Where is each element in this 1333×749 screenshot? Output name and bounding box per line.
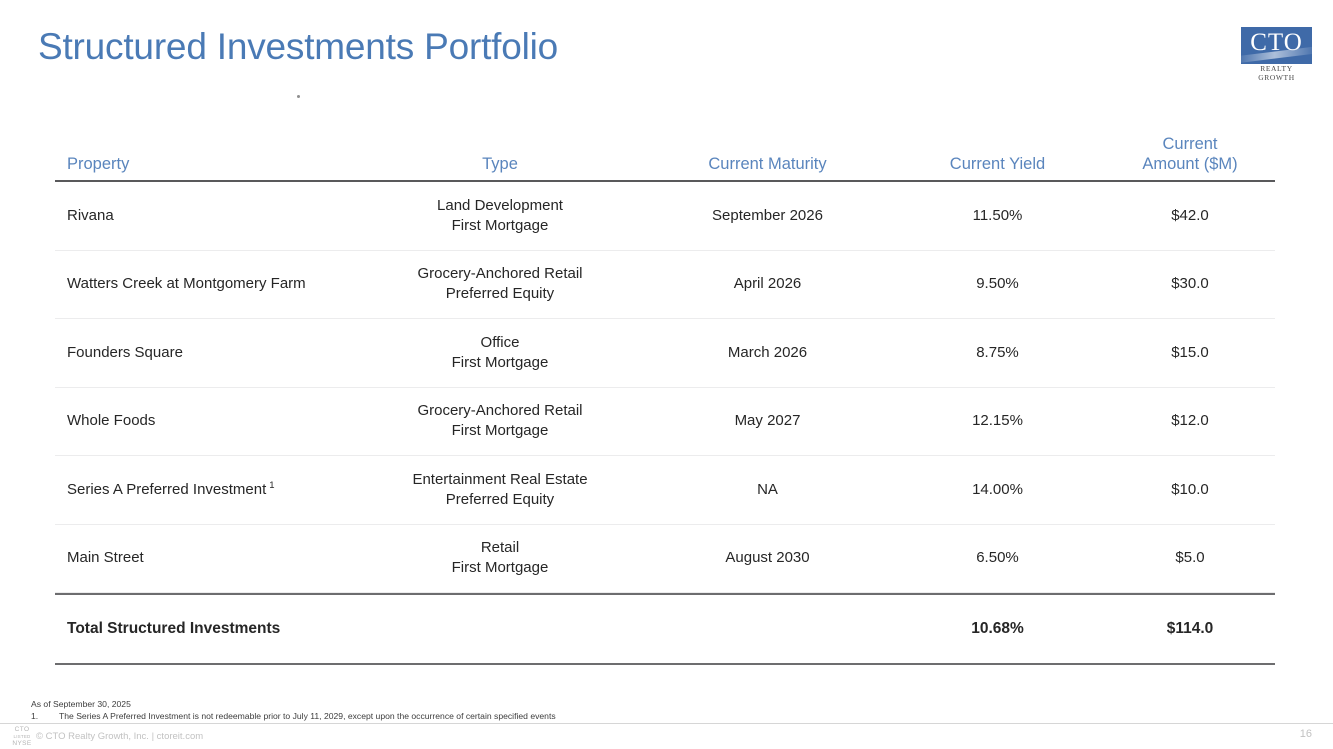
cell-current-maturity: NA <box>645 480 890 500</box>
cell-current-maturity: March 2026 <box>645 343 890 363</box>
page-number: 16 <box>1300 728 1312 740</box>
cell-current-maturity: May 2027 <box>645 411 890 431</box>
stray-dot-artifact <box>297 95 300 98</box>
property-footnote-marker: 1 <box>269 480 274 491</box>
cell-current-amount: $10.0 <box>1105 480 1275 500</box>
cell-current-amount: $5.0 <box>1105 548 1275 568</box>
cell-type: Grocery-Anchored Retail First Mortgage <box>355 401 645 441</box>
cell-current-yield: 12.15% <box>890 411 1105 431</box>
structured-investments-table: Property Type Current Maturity Current Y… <box>55 128 1275 665</box>
property-name: Series A Preferred Investment <box>67 481 266 498</box>
table-row: Rivana Land Development First Mortgage S… <box>55 182 1275 251</box>
logo-subtitle: REALTY GROWTH <box>1241 64 1312 82</box>
type-line1: Grocery-Anchored Retail <box>355 401 645 421</box>
cell-current-amount: $42.0 <box>1105 206 1275 226</box>
footnote-item: 1. The Series A Preferred Investment is … <box>31 710 556 722</box>
column-header-current-amount-line1: Current <box>1105 134 1275 155</box>
cell-total-current-amount: $114.0 <box>1105 619 1275 640</box>
cell-current-maturity: September 2026 <box>645 206 890 226</box>
type-line1: Retail <box>355 538 645 558</box>
table-total-row: Total Structured Investments 10.68% $114… <box>55 593 1275 665</box>
footnotes: As of September 30, 2025 1. The Series A… <box>31 698 556 723</box>
cto-realty-growth-logo: CTO REALTY GROWTH <box>1241 27 1312 75</box>
type-line2: First Mortgage <box>355 558 645 578</box>
column-header-current-amount: Current Amount ($M) <box>1105 134 1275 180</box>
cell-current-amount: $30.0 <box>1105 274 1275 294</box>
type-line1: Grocery-Anchored Retail <box>355 264 645 284</box>
property-name: Watters Creek at Montgomery Farm <box>67 275 306 292</box>
property-name: Main Street <box>67 549 144 566</box>
copyright-text: © CTO Realty Growth, Inc. | ctoreit.com <box>36 731 203 742</box>
cell-property: Whole Foods <box>55 411 355 431</box>
footer-divider <box>0 723 1333 724</box>
cell-property: Main Street <box>55 548 355 568</box>
column-header-current-yield: Current Yield <box>890 154 1105 180</box>
cell-current-yield: 8.75% <box>890 343 1105 363</box>
cell-type: Office First Mortgage <box>355 333 645 373</box>
property-name: Whole Foods <box>67 412 155 429</box>
nyse-listing-logo: CTO LISTED NYSE <box>8 726 36 748</box>
table-row: Whole Foods Grocery-Anchored Retail Firs… <box>55 388 1275 457</box>
footer-logo-nyse: NYSE <box>8 740 36 748</box>
type-line2: First Mortgage <box>355 216 645 236</box>
cell-total-label: Total Structured Investments <box>55 619 355 640</box>
column-header-property: Property <box>55 154 355 180</box>
type-line1: Land Development <box>355 196 645 216</box>
table-header-row: Property Type Current Maturity Current Y… <box>55 128 1275 182</box>
cell-type: Land Development First Mortgage <box>355 196 645 236</box>
type-line2: Preferred Equity <box>355 490 645 510</box>
property-name: Founders Square <box>67 344 183 361</box>
cell-current-yield: 6.50% <box>890 548 1105 568</box>
logo-box: CTO <box>1241 27 1312 64</box>
cell-property: Founders Square <box>55 343 355 363</box>
type-line1: Office <box>355 333 645 353</box>
cell-current-yield: 11.50% <box>890 206 1105 226</box>
cell-type: Grocery-Anchored Retail Preferred Equity <box>355 264 645 304</box>
cell-total-current-yield: 10.68% <box>890 619 1105 640</box>
page-title: Structured Investments Portfolio <box>38 26 558 68</box>
footnote-text: The Series A Preferred Investment is not… <box>59 710 556 722</box>
type-line2: Preferred Equity <box>355 284 645 304</box>
as-of-date: As of September 30, 2025 <box>31 698 556 710</box>
table-row: Series A Preferred Investment1 Entertain… <box>55 456 1275 525</box>
cell-type: Entertainment Real Estate Preferred Equi… <box>355 470 645 510</box>
cell-type: Retail First Mortgage <box>355 538 645 578</box>
column-header-type: Type <box>355 154 645 180</box>
cell-current-yield: 9.50% <box>890 274 1105 294</box>
property-name: Rivana <box>67 207 114 224</box>
type-line2: First Mortgage <box>355 353 645 373</box>
cell-current-maturity: April 2026 <box>645 274 890 294</box>
footnote-number: 1. <box>31 710 59 722</box>
column-header-current-amount-line2: Amount ($M) <box>1105 154 1275 175</box>
table-row: Main Street Retail First Mortgage August… <box>55 525 1275 594</box>
cell-property: Watters Creek at Montgomery Farm <box>55 274 355 294</box>
cell-current-amount: $12.0 <box>1105 411 1275 431</box>
cell-property: Rivana <box>55 206 355 226</box>
type-line2: First Mortgage <box>355 421 645 441</box>
cell-current-maturity: August 2030 <box>645 548 890 568</box>
cell-current-amount: $15.0 <box>1105 343 1275 363</box>
table-row: Founders Square Office First Mortgage Ma… <box>55 319 1275 388</box>
cell-current-yield: 14.00% <box>890 480 1105 500</box>
table-row: Watters Creek at Montgomery Farm Grocery… <box>55 251 1275 320</box>
column-header-current-maturity: Current Maturity <box>645 154 890 180</box>
footer-logo-cto: CTO <box>8 726 36 734</box>
cell-property: Series A Preferred Investment1 <box>55 480 355 500</box>
type-line1: Entertainment Real Estate <box>355 470 645 490</box>
